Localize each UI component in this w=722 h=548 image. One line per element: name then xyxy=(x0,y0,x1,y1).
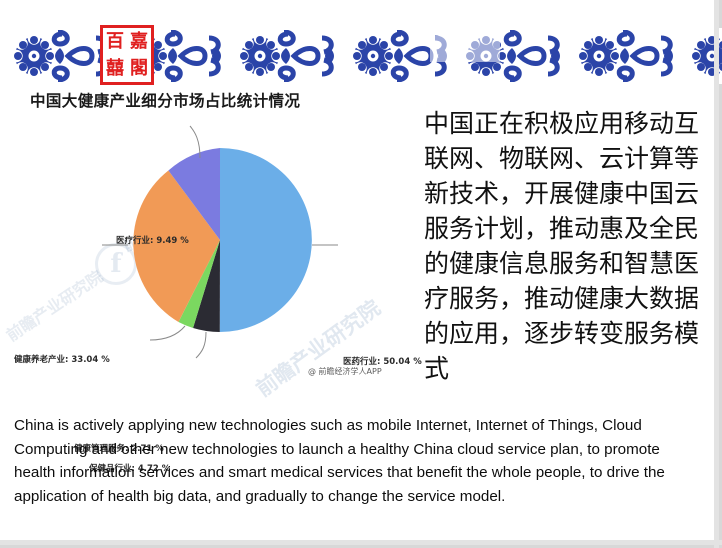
bottom-edge-shadow xyxy=(0,540,722,545)
chinese-paragraph: 中国正在积极应用移动互联网、物联网、云计算等新技术，开展健康中国云服务计划，推动… xyxy=(424,106,712,386)
seal-char-2: 嘉 xyxy=(127,28,151,55)
slide-canvas: 百 嘉 囍 閣 中国大健康产业细分市场占比统计情况 f 前瞻 前瞻产业研究院 前… xyxy=(0,0,722,548)
chart-credit: @ 前瞻经济学人APP xyxy=(308,366,382,377)
right-edge-shadow xyxy=(714,0,719,548)
red-seal-stamp: 百 嘉 囍 閣 xyxy=(100,25,154,85)
seal-char-3: 囍 xyxy=(103,55,127,82)
chart-title: 中国大健康产业细分市场占比统计情况 xyxy=(30,89,300,111)
seal-char-1: 百 xyxy=(103,28,127,55)
pie-label-medical-industry: 医疗行业: 9.49 % xyxy=(116,234,189,246)
english-paragraph: China is actively applying new technolog… xyxy=(14,414,700,508)
pie-chart: f 前瞻 前瞻产业研究院 前瞻产业研究院 医疗行业: 9 xyxy=(0,110,420,395)
pie-label-elderly-care: 健康养老产业: 33.04 % xyxy=(14,353,110,365)
seal-char-4: 閣 xyxy=(127,55,151,82)
